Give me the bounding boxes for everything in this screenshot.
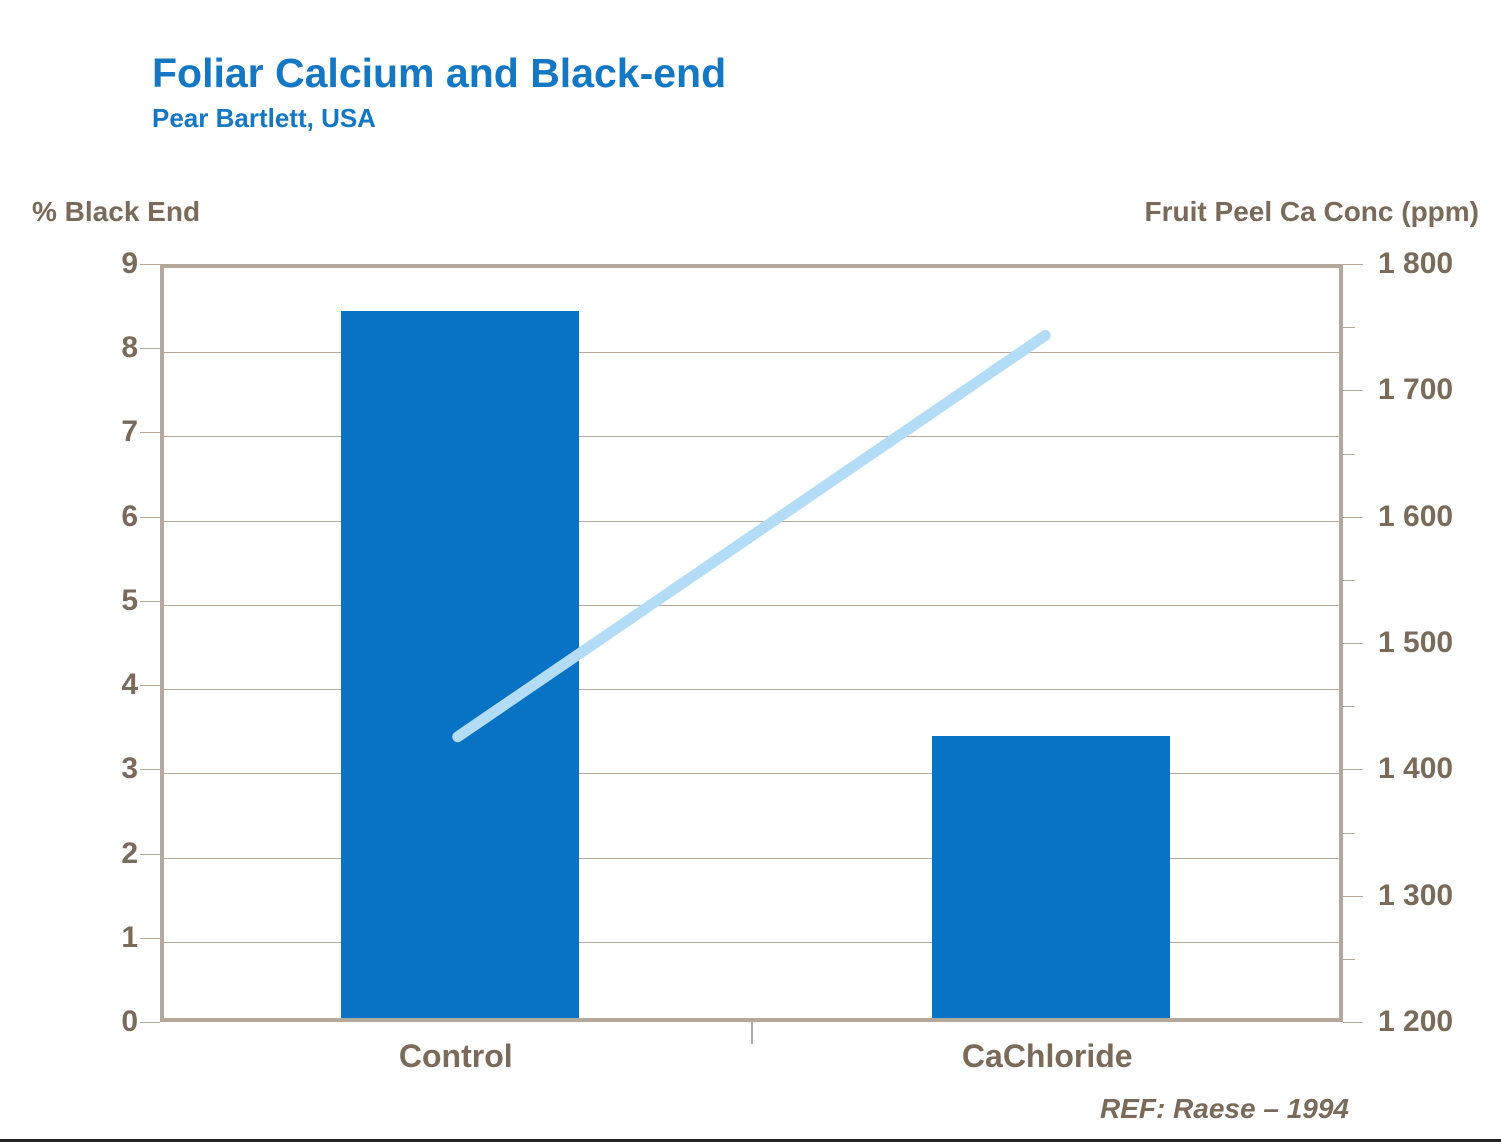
plot-area xyxy=(160,264,1343,1022)
right-tick-mark xyxy=(1343,517,1363,518)
left-tick-mark xyxy=(140,348,160,349)
chart-slide: Foliar Calcium and Black-end Pear Bartle… xyxy=(0,0,1501,1142)
right-tick-mark xyxy=(1343,1022,1363,1023)
trend-line-segment xyxy=(458,336,1046,737)
left-tick-mark xyxy=(140,601,160,602)
right-tick-mark xyxy=(1343,643,1363,644)
category-axis-labels: ControlCaChloride xyxy=(160,1038,1343,1088)
left-tick-mark xyxy=(140,1022,160,1023)
left-axis-title: % Black End xyxy=(32,196,200,228)
right-tick-label: 1 500 xyxy=(1378,626,1453,660)
left-tick-label: 1 xyxy=(121,921,138,955)
right-tick-label: 1 200 xyxy=(1378,1005,1453,1039)
left-tick-label: 6 xyxy=(121,500,138,534)
reference-note: REF: Raese – 1994 xyxy=(1100,1093,1349,1125)
left-tick-mark xyxy=(140,517,160,518)
right-tick-label: 1 400 xyxy=(1378,752,1453,786)
left-tick-mark xyxy=(140,938,160,939)
right-tick-label: 1 600 xyxy=(1378,500,1453,534)
left-tick-mark xyxy=(140,264,160,265)
page-title: Foliar Calcium and Black-end xyxy=(152,52,726,95)
right-axis-title: Fruit Peel Ca Conc (ppm) xyxy=(1145,196,1479,228)
left-tick-mark xyxy=(140,685,160,686)
right-minor-tick-mark xyxy=(1343,454,1355,455)
right-minor-tick-mark xyxy=(1343,327,1355,328)
right-minor-tick-mark xyxy=(1343,833,1355,834)
category-label-cachloride: CaChloride xyxy=(962,1038,1133,1075)
right-tick-mark xyxy=(1343,390,1363,391)
left-tick-label: 7 xyxy=(121,415,138,449)
right-tick-mark xyxy=(1343,769,1363,770)
left-tick-label: 9 xyxy=(121,247,138,281)
left-tick-label: 3 xyxy=(121,752,138,786)
right-tick-label: 1 300 xyxy=(1378,879,1453,913)
left-tick-label: 8 xyxy=(121,331,138,365)
line-series xyxy=(164,268,1339,1018)
left-tick-mark xyxy=(140,769,160,770)
right-minor-tick-mark xyxy=(1343,706,1355,707)
right-axis-ticks: 1 8001 7001 6001 5001 4001 3001 200 xyxy=(1378,264,1498,1022)
category-label-control: Control xyxy=(399,1038,513,1075)
left-tick-label: 0 xyxy=(121,1005,138,1039)
left-tick-label: 2 xyxy=(121,837,138,871)
right-minor-tick-mark xyxy=(1343,959,1355,960)
right-tick-label: 1 800 xyxy=(1378,247,1453,281)
left-tick-label: 4 xyxy=(121,668,138,702)
page-subtitle: Pear Bartlett, USA xyxy=(152,103,726,134)
right-tick-label: 1 700 xyxy=(1378,373,1453,407)
right-minor-tick-mark xyxy=(1343,580,1355,581)
right-tick-mark xyxy=(1343,896,1363,897)
left-axis-ticks: 9876543210 xyxy=(60,264,138,1022)
right-tick-mark xyxy=(1343,264,1363,265)
left-tick-mark xyxy=(140,854,160,855)
left-tick-label: 5 xyxy=(121,584,138,618)
title-block: Foliar Calcium and Black-end Pear Bartle… xyxy=(152,52,726,134)
left-tick-mark xyxy=(140,432,160,433)
